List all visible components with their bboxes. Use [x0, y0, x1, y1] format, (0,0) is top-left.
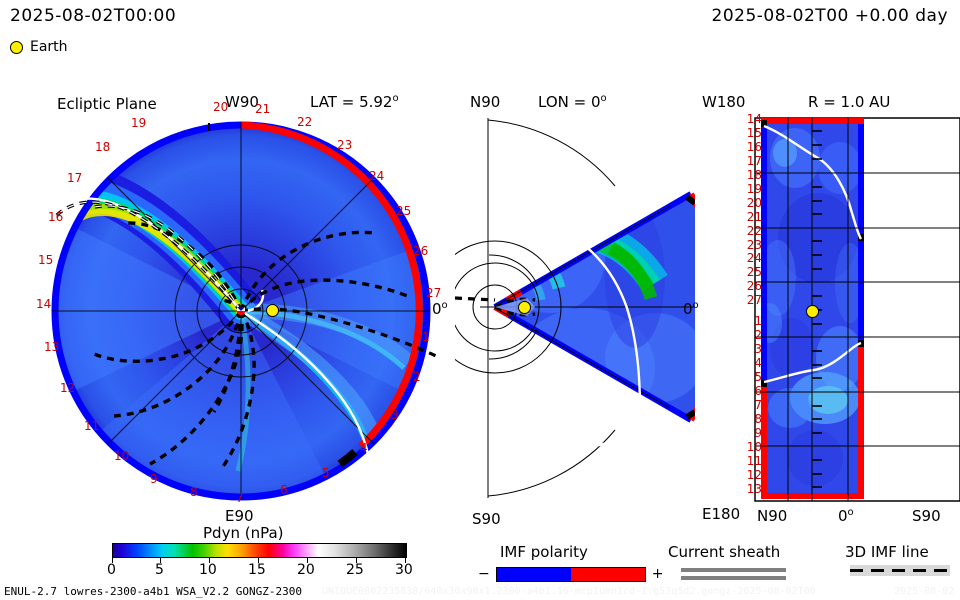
colorbar-title: Pdyn (nPa)	[203, 524, 284, 542]
sphere-y-tick: 27	[747, 294, 762, 306]
sphere-x-label-right: S90	[912, 507, 941, 525]
earth-legend: Earth	[10, 39, 68, 55]
colorbar-tick: 20	[297, 562, 315, 578]
ecliptic-bottom-axis-label: E90	[225, 507, 254, 525]
earth-marker-icon	[10, 41, 23, 54]
sphere-y-tick: 12	[747, 469, 762, 481]
earth-legend-label: Earth	[30, 39, 68, 55]
degree-icon: o	[693, 300, 699, 311]
ecliptic-right-axis-label: 0o	[432, 300, 448, 318]
sphere-y-tick: 10	[747, 441, 762, 453]
colorbar-tick: 5	[155, 562, 164, 578]
sphere-x-label-left: N90	[757, 507, 787, 525]
sphere-y-tick: 9	[754, 427, 762, 439]
meridional-plane-plot[interactable]	[455, 108, 695, 528]
imf-polarity-legend: − +	[478, 566, 663, 582]
header-forecast-time: 2025-08-02T00 +0.00 day	[712, 6, 948, 26]
sphere-y-tick: 13	[747, 483, 762, 495]
sphere-y-tick: 3	[754, 343, 762, 355]
degree-icon: o	[601, 93, 607, 104]
imf-negative-label: −	[478, 566, 490, 582]
sphere-y-tick: 23	[747, 239, 762, 251]
sphere-y-tick: 2	[754, 329, 762, 341]
meridional-right-value: 0	[683, 300, 693, 318]
sphere-y-tick: 21	[747, 211, 762, 223]
sphere-map-plot[interactable]	[700, 108, 960, 518]
footer-run-id: UNIQUE0802235838/640x30x90x1.2300-a4b1.1…	[322, 586, 816, 597]
colorbar-tick: 25	[346, 562, 364, 578]
sphere-y-tick: 24	[747, 252, 762, 264]
meridional-earth-marker[interactable]	[518, 301, 531, 314]
colorbar-tick: 15	[248, 562, 266, 578]
sphere-x-label-center: 0o	[838, 507, 854, 525]
imf-polarity-swatch	[496, 567, 646, 582]
sphere-y-tick: 15	[747, 127, 762, 139]
sphere-y-tick: 4	[754, 357, 762, 369]
sphere-y-tick: 17	[747, 155, 762, 167]
sphere-y-tick: 20	[747, 197, 762, 209]
imf-positive-swatch	[571, 568, 645, 581]
colorbar-tick: 10	[199, 562, 217, 578]
sphere-y-tick: 26	[747, 280, 762, 292]
ecliptic-plane-plot[interactable]	[0, 100, 470, 525]
degree-icon: o	[848, 507, 854, 518]
footer-run-date: 2025-08-02	[894, 586, 954, 597]
pdyn-colorbar[interactable]	[112, 543, 407, 558]
sphere-y-tick: 8	[754, 413, 762, 425]
ecliptic-right-value: 0	[432, 300, 442, 318]
sphere-y-tick: 5	[754, 371, 762, 383]
meridional-field-features	[455, 108, 695, 528]
imf-negative-swatch	[497, 568, 571, 581]
degree-icon: o	[442, 300, 448, 311]
imf-line-legend-title: 3D IMF line	[845, 543, 929, 561]
sphere-y-tick: 25	[747, 266, 762, 278]
imf-line-legend-swatch	[850, 565, 950, 576]
sphere-y-tick: 16	[747, 141, 762, 153]
imf-positive-label: +	[652, 566, 664, 582]
sphere-y-tick: 22	[747, 225, 762, 237]
sphere-y-tick: 1	[754, 315, 762, 327]
footer-model-version: ENUL-2.7 lowres-2300-a4b1 WSA_V2.2 GONGZ…	[4, 585, 302, 598]
current-sheath-legend-title: Current sheath	[668, 543, 780, 561]
sphere-y-tick: 18	[747, 169, 762, 181]
sphere-y-tick: 7	[754, 399, 762, 411]
colorbar-tick: 30	[395, 562, 413, 578]
meridional-bottom-axis-label: S90	[472, 510, 501, 528]
sphere-y-tick: 19	[747, 183, 762, 195]
header-timestamp: 2025-08-02T00:00	[10, 6, 176, 26]
sphere-y-tick: 14	[747, 113, 762, 125]
current-sheath-legend-swatch	[681, 568, 786, 580]
sun-marker-icon	[237, 307, 245, 315]
meridional-right-axis-label: 0o	[683, 300, 699, 318]
imf-polarity-legend-title: IMF polarity	[500, 543, 588, 561]
sphere-earth-marker[interactable]	[806, 305, 819, 318]
ecliptic-earth-marker[interactable]	[266, 304, 279, 317]
sphere-x-center-value: 0	[838, 507, 848, 525]
sphere-y-tick: 11	[747, 455, 762, 467]
colorbar-tick: 0	[107, 562, 116, 578]
sphere-y-tick: 6	[754, 385, 762, 397]
